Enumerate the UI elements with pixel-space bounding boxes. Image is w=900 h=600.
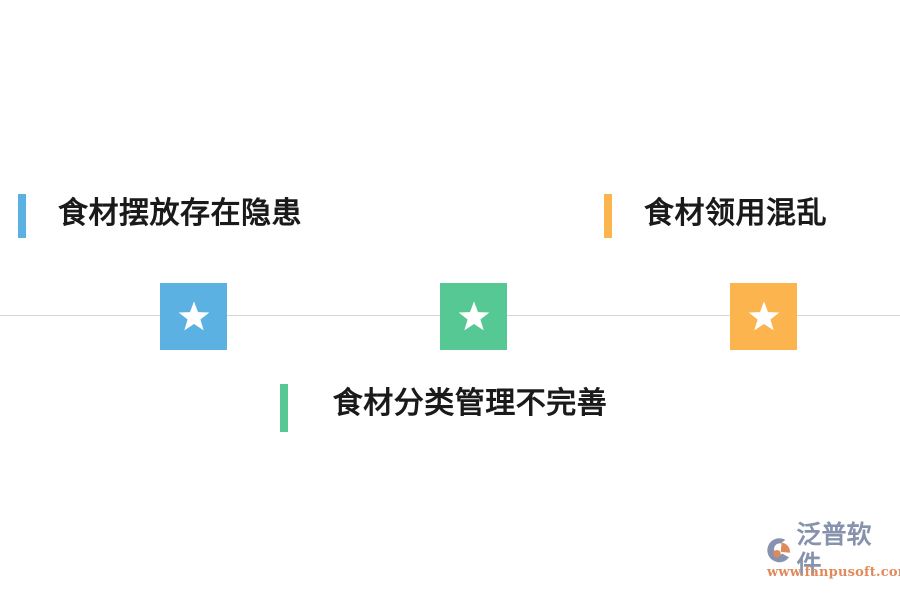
milestone-label-2[interactable]: 食材分类管理不完善 — [280, 384, 620, 432]
milestone-label-3[interactable]: 食材领用混乱 — [604, 194, 827, 238]
milestone-label-1-text: 食材摆放存在隐患 — [58, 195, 302, 232]
infographic-canvas: 食材摆放存在隐患 食材领用混乱 食材分类管理不完善 泛普软件 www.fanpu… — [0, 0, 900, 600]
fanpu-logo-icon — [765, 535, 795, 565]
accent-bar-2 — [280, 384, 288, 432]
milestone-marker-1[interactable] — [160, 283, 227, 350]
accent-bar-3 — [604, 194, 612, 238]
watermark-top-row: 泛普软件 — [765, 533, 895, 567]
star-icon — [747, 300, 781, 334]
milestone-label-2-text: 食材分类管理不完善 — [320, 385, 620, 422]
watermark-url-text: www.fanpusoft.com — [767, 565, 900, 580]
milestone-label-3-text: 食材领用混乱 — [644, 195, 827, 232]
milestone-marker-2[interactable] — [440, 283, 507, 350]
milestone-label-1[interactable]: 食材摆放存在隐患 — [18, 194, 302, 238]
star-icon — [457, 300, 491, 334]
watermark: 泛普软件 www.fanpusoft.com — [765, 533, 895, 589]
milestone-marker-3[interactable] — [730, 283, 797, 350]
star-icon — [177, 300, 211, 334]
accent-bar-1 — [18, 194, 26, 238]
